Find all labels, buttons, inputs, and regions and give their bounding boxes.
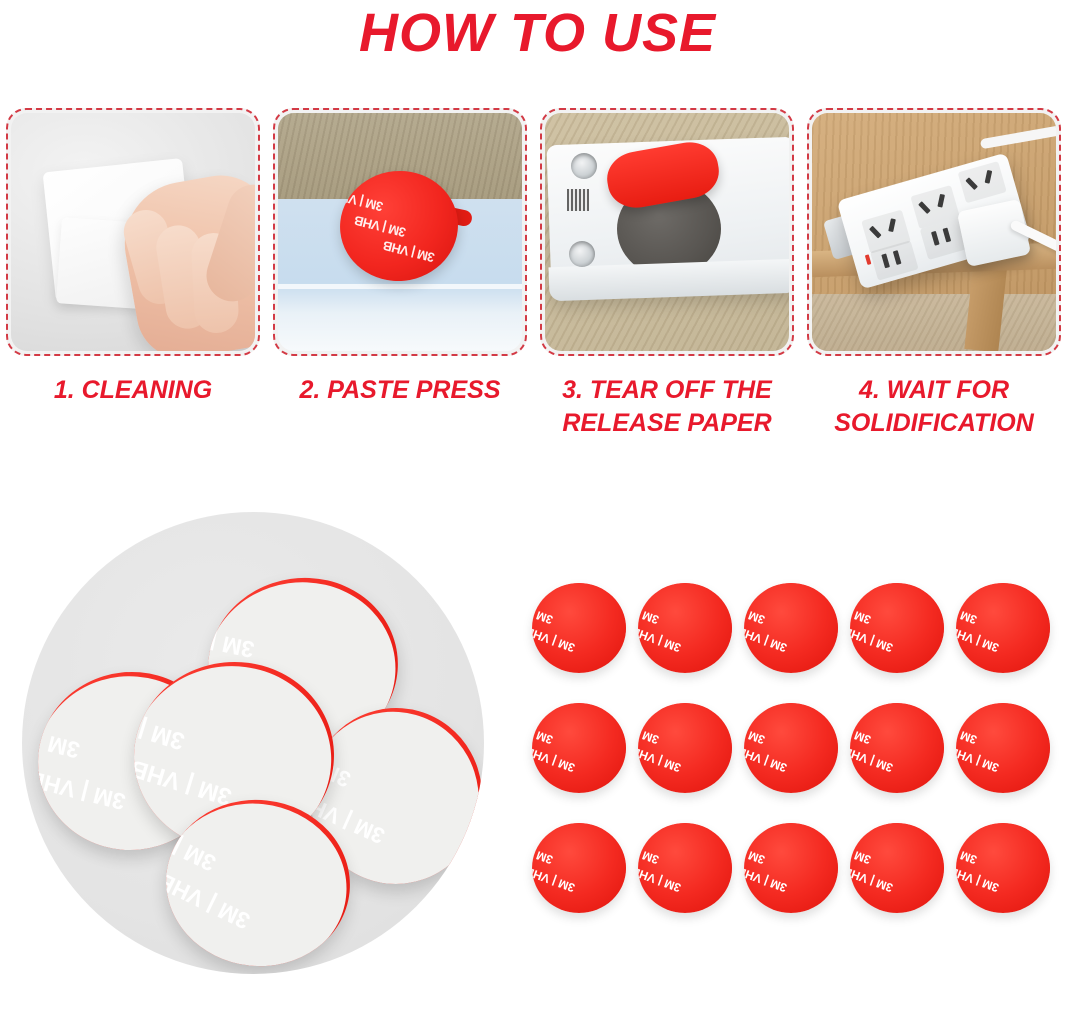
step-3-tear-off-release-paper: 3. TEAR OFF THE RELEASE PAPER [540,108,794,440]
step-3-label: 3. TEAR OFF THE RELEASE PAPER [562,374,772,440]
step-1-label: 1. CLEANING [54,374,212,407]
grid-disc-cell: 3M | VHB3M | VHB3M | VHB [634,820,740,940]
step-4-photo-frame [807,108,1061,356]
adhesive-disc: 3M | VHB3M | VHB3M | VHB [638,823,732,913]
disc-brand-text: 3M | VHB [638,716,661,747]
disc-brand-text: 3M | VHB [29,663,41,712]
disc-face: 3M | VHB3M | VHB3M | VHB [956,703,1050,793]
step-2-label-line-1: 2. PASTE PRESS [300,374,501,407]
grid-disc-cell: 3M | VHB3M | VHB3M | VHB [846,700,952,820]
disc-brand-text: 3M | VHB [850,864,895,895]
page-title: HOW TO USE [0,4,1075,62]
disc-brand-text: 3M | VHB [532,744,577,775]
adhesive-disc: 3M | VHB3M | VHB3M | VHB [744,823,838,913]
disc-face: 3M | VHB3M | VHB3M | VHB [638,703,732,793]
adhesive-disc: 3M | VHB3M | VHB3M | VHB [638,583,732,673]
step-4-photo [812,113,1056,351]
disc-brand-text: 3M | VHB [382,238,436,265]
disc-brand-text: 3M | VHB [353,213,407,240]
disc-face: 3M | VHB3M | VHB3M | VHB [638,823,732,913]
grid-disc-cell: 3M | VHB3M | VHB3M | VHB [952,700,1058,820]
product-photos: 3M | VHB 3M | VHB 3M | VHB 3M | VHB 3M |… [0,470,1075,1023]
disc-brand-text: 3M | VHB [532,836,555,867]
disc-brand-text: 3M | VHB [956,583,959,599]
step-2-photo: 3M | VHB 3M | VHB 3M | VHB [278,113,522,351]
step-2-label: 2. PASTE PRESS [300,374,501,407]
disc-brand-text: 3M | VHB [638,823,641,839]
disc-brand-text: 3M | VHB [744,744,789,775]
grid-disc-cell: 3M | VHB3M | VHB3M | VHB [634,580,740,700]
disc-face: 3M | VHB3M | VHB3M | VHB [744,823,838,913]
disc-face: 3M | VHB3M | VHB3M | VHB [850,823,944,913]
disc-brand-text: 3M | VHB [532,823,535,839]
disc-face: 3M | VHB3M | VHB3M | VHB [532,823,626,913]
adhesive-disc: 3M | VHB3M | VHB3M | VHB [744,583,838,673]
step-3-label-line-1: 3. TEAR OFF THE [562,374,772,407]
disc-brand-text: 3M | VHB [744,583,747,599]
socket-5 [958,161,1007,203]
floor [812,294,1056,351]
disc-brand-text: 3M | VHB [956,864,1001,895]
mount-hole-bottom [569,241,595,267]
disc-brand-text: 3M | VHB [956,836,979,867]
disc-brand-text: 3M | VHB [956,703,959,719]
adhesive-disc: 3M | VHB3M | VHB3M | VHB [850,823,944,913]
disc-brand-text: 3M | VHB [638,864,683,895]
step-4-label-line-2: SOLIDIFICATION [834,407,1034,440]
adhesive-disc: 3M | VHB3M | VHB3M | VHB [850,703,944,793]
grid-disc-cell: 3M | VHB3M | VHB3M | VHB [952,580,1058,700]
disc-brand-text: 3M | VHB [744,596,767,627]
disc-face: 3M | VHB3M | VHB3M | VHB [850,583,944,673]
adhesive-disc: 3M | VHB3M | VHB3M | VHB [744,703,838,793]
disc-brand-text: 3M | VHB [532,864,577,895]
disc-face: 3M | VHB3M | VHB3M | VHB [956,583,1050,673]
step-3-label-line-2: RELEASE PAPER [562,407,772,440]
step-4-label: 4. WAIT FOR SOLIDIFICATION [834,374,1034,440]
disc-brand-text: 3M | VHB [850,703,853,719]
step-3-photo [545,113,789,351]
grid-disc-cell: 3M | VHB3M | VHB3M | VHB [740,820,846,940]
disc-brand-text: 3M | VHB [956,716,979,747]
step-1-cleaning: 1. CLEANING [6,108,260,440]
step-2-paste-press: 3M | VHB 3M | VHB 3M | VHB 2. PASTE PRES… [273,108,527,440]
disc-brand-text: 3M | VHB [744,823,747,839]
adhesive-disc: 3M | VHB3M | VHB3M | VHB [956,823,1050,913]
grid-disc-cell: 3M | VHB3M | VHB3M | VHB [846,580,952,700]
disc-brand-text: 3M | VHB [850,823,853,839]
disc-brand-text: 3M | VHB [532,624,577,655]
disc-brand-text: 3M | VHB [956,624,1001,655]
disc-brand-text: 3M | VHB [638,703,641,719]
adhesive-disc: 3M | VHB3M | VHB3M | VHB [532,703,626,793]
disc-brand-text: 3M | VHB [744,624,789,655]
disc-face: 3M | VHB3M | VHB3M | VHB [744,703,838,793]
disc-brand-text: 3M | VHB [956,823,959,839]
grid-disc-cell: 3M | VHB3M | VHB3M | VHB [528,700,634,820]
disc-brand-text: 3M | VHB [850,624,895,655]
disc-brand-text: 3M | VHB [956,744,1001,775]
disc-brand-text: 3M | VHB [744,836,767,867]
disc-face: 3M | VHB3M | VHB3M | VHB [850,703,944,793]
disc-brand-text: 3M | VHB [850,583,853,599]
barcode-label [567,189,589,211]
disc-face: 3M | VHB3M | VHB3M | VHB [744,583,838,673]
grid-disc-cell: 3M | VHB3M | VHB3M | VHB [528,580,634,700]
disc-brand-text: 3M | VHB [744,703,747,719]
disc-brand-text: 3M | VHB [197,568,212,615]
disc-face: 3M | VHB3M | VHB3M | VHB [956,823,1050,913]
step-2-photo-frame: 3M | VHB 3M | VHB 3M | VHB [273,108,527,356]
adhesive-disc: 3M | VHB3M | VHB3M | VHB [956,703,1050,793]
step-1-label-line-1: 1. CLEANING [54,374,212,407]
disc-brand-text: 3M | VHB [850,596,873,627]
disc-brand-text: 3M | VHB [532,583,535,599]
adhesive-disc: 3M | VHB3M | VHB3M | VHB [532,823,626,913]
grid-disc-cell: 3M | VHB3M | VHB3M | VHB [740,580,846,700]
how-to-use-steps: 1. CLEANING 3M | VHB 3M | VHB 3M | VHB 2… [6,108,1069,440]
disc-brand-text: 3M | VHB [850,716,873,747]
disc-brand-text: 3M | VHB [638,583,641,599]
disc-brand-text: 3M | VHB [532,716,555,747]
adhesive-disc: 3M | VHB3M | VHB3M | VHB [850,583,944,673]
disc-brand-text: 3M | VHB [638,624,683,655]
product-disc-grid: 3M | VHB3M | VHB3M | VHB 3M | VHB3M | VH… [528,580,1058,940]
disc-brand-text: 3M | VHB [532,596,555,627]
disc-brand-text: 3M | VHB [532,703,535,719]
step-3-photo-frame [540,108,794,356]
grid-disc-cell: 3M | VHB3M | VHB3M | VHB [634,700,740,820]
disc-brand-text: 3M | VHB [956,596,979,627]
mount-hole-top [571,153,597,179]
disc-brand-text: 3M | VHB [744,716,767,747]
step-1-photo-frame [6,108,260,356]
disc-brand-text: 3M | VHB [638,744,683,775]
grid-disc-cell: 3M | VHB3M | VHB3M | VHB [952,820,1058,940]
disc-brand-text: 3M | VHB [638,596,661,627]
disc-brand-text: 3M | VHB [335,187,385,214]
disc-face: 3M | VHB3M | VHB3M | VHB [532,703,626,793]
hero-product-photo: 3M | VHB 3M | VHB 3M | VHB 3M | VHB 3M |… [22,512,484,974]
step-1-photo [11,113,255,351]
grid-disc-cell: 3M | VHB3M | VHB3M | VHB [740,700,846,820]
disc-brand-text: 3M | VHB [638,836,661,867]
disc-face: 3M | VHB3M | VHB3M | VHB [638,583,732,673]
adhesive-disc: 3M | VHB3M | VHB3M | VHB [532,583,626,673]
adhesive-disc: 3M | VHB3M | VHB3M | VHB [956,583,1050,673]
grid-disc-cell: 3M | VHB3M | VHB3M | VHB [846,820,952,940]
disc-brand-text: 3M | VHB [850,836,873,867]
step-4-label-line-1: 4. WAIT FOR [834,374,1034,407]
step-4-wait-for-solidification: 4. WAIT FOR SOLIDIFICATION [807,108,1061,440]
disc-brand-text: 3M | VHB [850,744,895,775]
device-edge [278,284,522,289]
disc-brand-text: 3M | VHB [744,864,789,895]
grid-disc-cell: 3M | VHB3M | VHB3M | VHB [528,820,634,940]
disc-face: 3M | VHB3M | VHB3M | VHB [532,583,626,673]
adhesive-disc: 3M | VHB3M | VHB3M | VHB [638,703,732,793]
